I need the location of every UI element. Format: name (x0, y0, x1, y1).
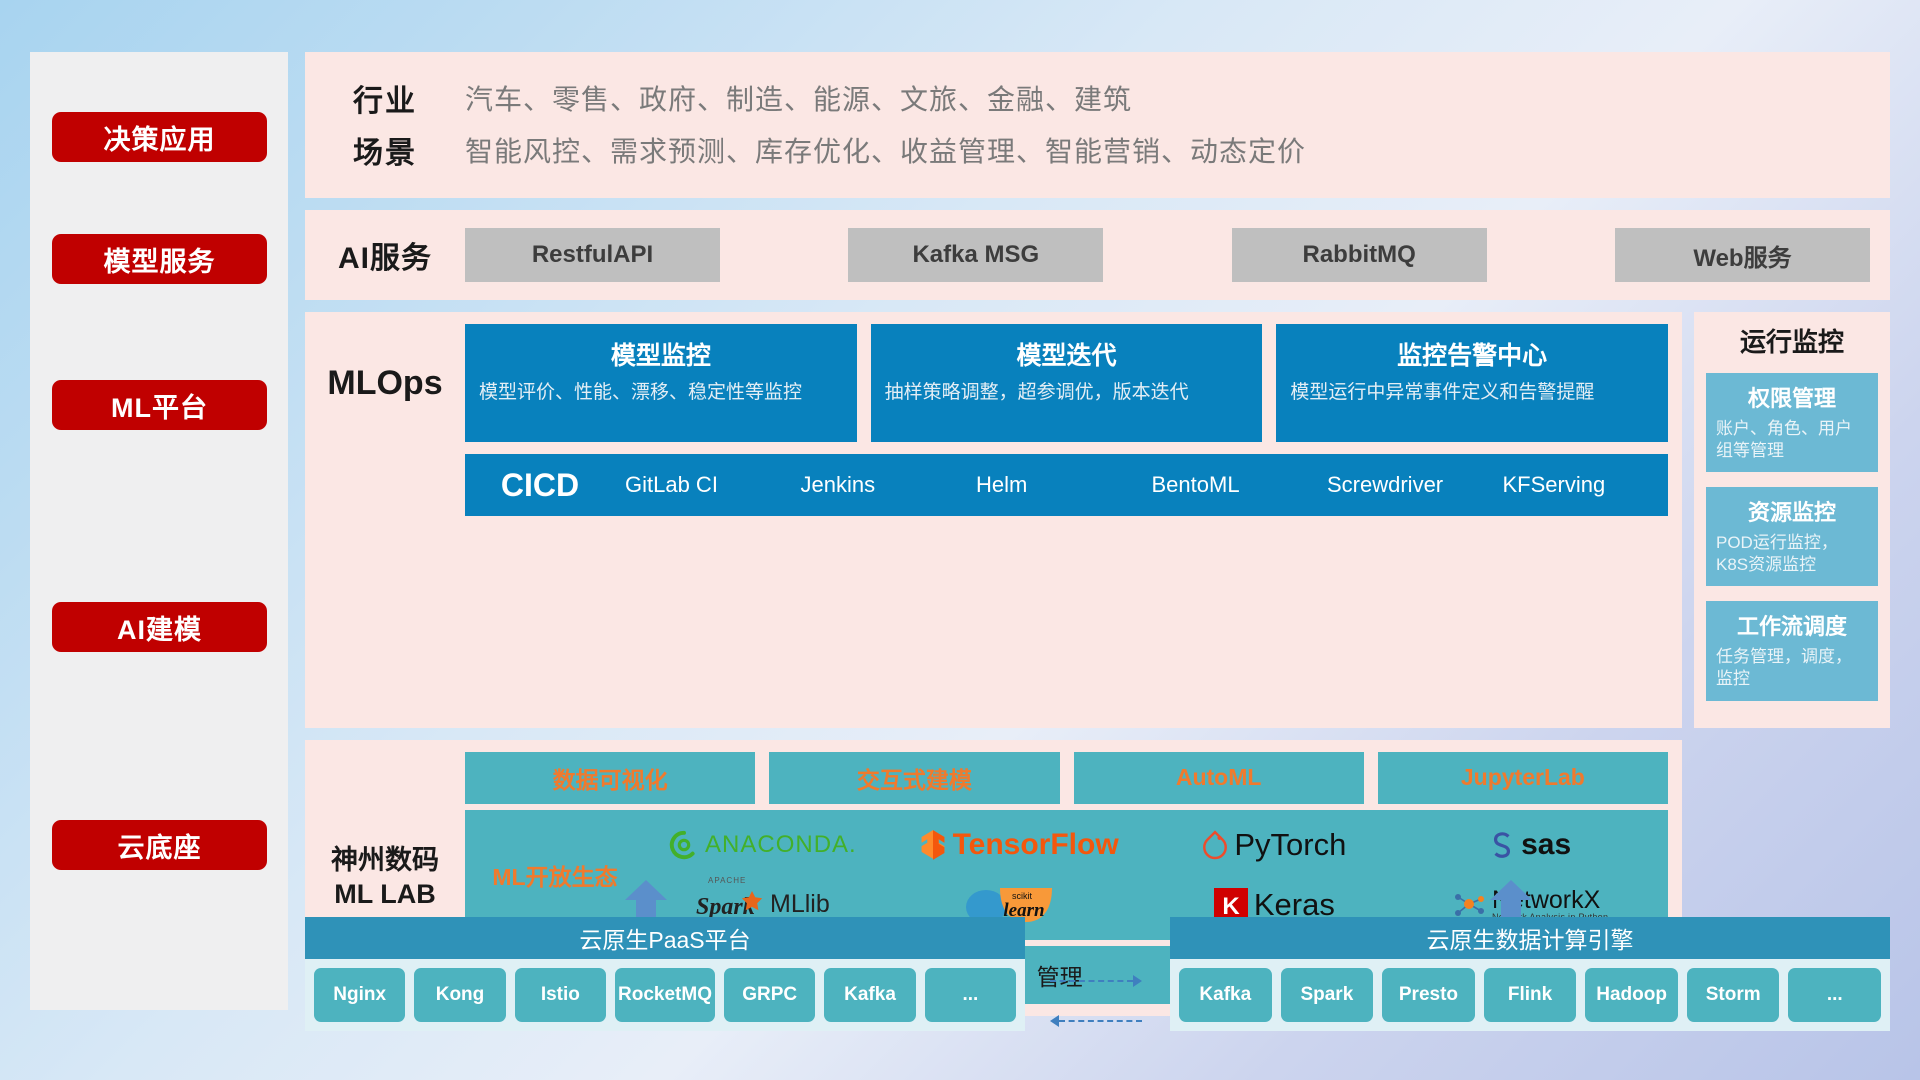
rail-chip-decision-app[interactable]: 决策应用 (52, 112, 267, 162)
cicd-strip: CICD GitLab CI Jenkins Helm BentoML Scre… (465, 454, 1668, 516)
chip-flink[interactable]: Flink (1484, 968, 1577, 1022)
logo-anaconda-text: ANACONDA. (705, 831, 857, 859)
rail-chip-label: AI建模 (117, 608, 202, 647)
card-desc: 模型评价、性能、漂移、稳定性等监控 (479, 380, 843, 406)
card-desc: 账户、角色、用户组等管理 (1716, 418, 1868, 462)
pytorch-icon (1202, 830, 1228, 860)
chip-kafka[interactable]: Kafka (824, 968, 915, 1022)
mlops-cards-row: MLOps 模型监控 模型评价、性能、漂移、稳定性等监控 模型迭代 抽样策略调整… (305, 324, 1682, 442)
tab-jupyterlab[interactable]: JupyterLab (1378, 752, 1668, 804)
logo-sas-text: sas (1521, 828, 1571, 862)
chip-more[interactable]: ... (1788, 968, 1881, 1022)
logo-pytorch-text: PyTorch (1234, 827, 1346, 863)
rail-chip-label: 决策应用 (104, 118, 216, 157)
logo-row-1: ANACONDA. TensorFlow (635, 816, 1658, 874)
mlops-card-model-iteration[interactable]: 模型迭代 抽样策略调整，超参调优，版本迭代 (871, 324, 1263, 442)
tab-data-visualization[interactable]: 数据可视化 (465, 752, 755, 804)
cloud-data-engine-group: 云原生数据计算引擎 Kafka Spark Presto Flink Hadoo… (1170, 880, 1890, 1045)
tab-interactive-modeling[interactable]: 交互式建模 (769, 752, 1059, 804)
chip-kafka[interactable]: Kafka (1179, 968, 1272, 1022)
rail-chip-model-service[interactable]: 模型服务 (52, 234, 267, 284)
up-arrow-icon (623, 880, 669, 920)
logo-sas[interactable]: sas (1402, 828, 1658, 862)
cicd-item-helm[interactable]: Helm (966, 473, 1142, 496)
logo-tensorflow-text: TensorFlow (953, 828, 1119, 862)
logo-tensorflow[interactable]: TensorFlow (891, 828, 1147, 862)
mlops-and-monitor-row: MLOps 模型监控 模型评价、性能、漂移、稳定性等监控 模型迭代 抽样策略调整… (305, 312, 1890, 728)
cicd-label: CICD (465, 467, 615, 504)
monitor-card-resource[interactable]: 资源监控 POD运行监控，K8S资源监控 (1706, 487, 1878, 586)
industry-value: 汽车、零售、政府、制造、能源、文旅、金融、建筑 (465, 78, 1132, 118)
logo-pytorch[interactable]: PyTorch (1147, 827, 1403, 863)
arrow-head-left-icon (1050, 1015, 1059, 1027)
card-title: 模型监控 (479, 336, 843, 372)
industry-row: 行业 汽车、零售、政府、制造、能源、文旅、金融、建筑 (305, 72, 1890, 124)
dashed-line (1059, 1020, 1142, 1022)
ai-service-key: AI服务 (305, 233, 465, 277)
ai-service-band: AI服务 RestfulAPI Kafka MSG RabbitMQ Web服务 (305, 210, 1890, 300)
runtime-monitor-title: 运行监控 (1706, 322, 1878, 359)
decision-app-band: 行业 汽车、零售、政府、制造、能源、文旅、金融、建筑 场景 智能风控、需求预测、… (305, 52, 1890, 198)
chip-presto[interactable]: Presto (1382, 968, 1475, 1022)
scenario-key: 场景 (305, 128, 465, 172)
left-rail: 决策应用 模型服务 ML平台 AI建模 云底座 (30, 52, 288, 1010)
ai-service-restfulapi[interactable]: RestfulAPI (465, 228, 720, 282)
anaconda-icon (669, 830, 699, 860)
cicd-item-kfserving[interactable]: KFServing (1493, 473, 1669, 496)
chip-rocketmq[interactable]: RocketMQ (615, 968, 715, 1022)
card-title: 工作流调度 (1716, 609, 1868, 641)
rail-chip-ai-modeling[interactable]: AI建模 (52, 602, 267, 652)
cicd-items: GitLab CI Jenkins Helm BentoML Screwdriv… (615, 473, 1668, 496)
cloud-paas-group: 云原生PaaS平台 Nginx Kong Istio RocketMQ GRPC… (305, 880, 1025, 1045)
card-desc: 模型运行中异常事件定义和告警提醒 (1290, 380, 1654, 406)
cloud-link-gap (1025, 880, 1170, 1045)
monitor-card-workflow[interactable]: 工作流调度 任务管理，调度，监控 (1706, 601, 1878, 700)
ml-lab-tabs: 数据可视化 交互式建模 AutoML JupyterLab (465, 752, 1668, 804)
scenario-value: 智能风控、需求预测、库存优化、收益管理、智能营销、动态定价 (465, 130, 1306, 170)
rail-chip-label: ML平台 (111, 386, 208, 425)
rail-chip-label: 云底座 (118, 826, 202, 865)
chip-spark[interactable]: Spark (1281, 968, 1374, 1022)
rail-chip-ml-platform[interactable]: ML平台 (52, 380, 267, 430)
card-title: 资源监控 (1716, 495, 1868, 527)
ml-lab-key-line1: 神州数码 (331, 844, 439, 878)
scenario-row: 场景 智能风控、需求预测、库存优化、收益管理、智能营销、动态定价 (305, 124, 1890, 176)
dashed-arrow-left (1050, 1020, 1142, 1022)
cicd-item-bentoml[interactable]: BentoML (1142, 473, 1318, 496)
logo-anaconda[interactable]: ANACONDA. (635, 830, 891, 860)
chip-hadoop[interactable]: Hadoop (1585, 968, 1678, 1022)
ai-service-items: RestfulAPI Kafka MSG RabbitMQ Web服务 (465, 228, 1890, 282)
tab-automl[interactable]: AutoML (1074, 752, 1364, 804)
chip-istio[interactable]: Istio (515, 968, 606, 1022)
card-desc: POD运行监控，K8S资源监控 (1716, 532, 1868, 576)
runtime-monitor-column: 运行监控 权限管理 账户、角色、用户组等管理 资源监控 POD运行监控，K8S资… (1694, 312, 1890, 728)
monitor-card-permission[interactable]: 权限管理 账户、角色、用户组等管理 (1706, 373, 1878, 472)
cloud-paas-title: 云原生PaaS平台 (305, 917, 1025, 959)
mlops-cards: 模型监控 模型评价、性能、漂移、稳定性等监控 模型迭代 抽样策略调整，超参调优，… (465, 324, 1682, 442)
chip-kong[interactable]: Kong (414, 968, 505, 1022)
card-title: 监控告警中心 (1290, 336, 1654, 372)
cloud-data-engine-title: 云原生数据计算引擎 (1170, 917, 1890, 959)
ai-service-rabbitmq[interactable]: RabbitMQ (1232, 228, 1487, 282)
cloud-foundation-row: 云原生PaaS平台 Nginx Kong Istio RocketMQ GRPC… (305, 880, 1890, 1045)
mlops-card-model-monitoring[interactable]: 模型监控 模型评价、性能、漂移、稳定性等监控 (465, 324, 857, 442)
arrow-head-right-icon (1133, 975, 1142, 987)
cloud-data-engine-chips: Kafka Spark Presto Flink Hadoop Storm ..… (1170, 959, 1890, 1031)
chip-more[interactable]: ... (925, 968, 1016, 1022)
card-title: 模型迭代 (885, 336, 1249, 372)
rail-chip-label: 模型服务 (104, 240, 216, 279)
industry-key: 行业 (305, 76, 465, 120)
chip-nginx[interactable]: Nginx (314, 968, 405, 1022)
card-desc: 任务管理，调度，监控 (1716, 646, 1868, 690)
mlops-key: MLOps (305, 324, 465, 442)
rail-chip-cloud-base[interactable]: 云底座 (52, 820, 267, 870)
tensorflow-icon (919, 829, 947, 861)
chip-storm[interactable]: Storm (1687, 968, 1780, 1022)
chip-grpc[interactable]: GRPC (724, 968, 815, 1022)
sas-icon (1489, 830, 1515, 860)
dashed-arrow-right (1050, 980, 1142, 982)
ai-service-kafka-msg[interactable]: Kafka MSG (848, 228, 1103, 282)
ai-service-web[interactable]: Web服务 (1615, 228, 1870, 282)
card-title: 权限管理 (1716, 381, 1868, 413)
up-arrow-icon (1488, 880, 1534, 920)
cicd-item-jenkins[interactable]: Jenkins (791, 473, 967, 496)
dashed-line (1050, 980, 1133, 982)
card-desc: 抽样策略调整，超参调优，版本迭代 (885, 380, 1249, 406)
mlops-band: MLOps 模型监控 模型评价、性能、漂移、稳定性等监控 模型迭代 抽样策略调整… (305, 312, 1682, 728)
cicd-item-gitlab-ci[interactable]: GitLab CI (615, 473, 791, 496)
cicd-item-screwdriver[interactable]: Screwdriver (1317, 473, 1493, 496)
main-stack: 行业 汽车、零售、政府、制造、能源、文旅、金融、建筑 场景 智能风控、需求预测、… (305, 52, 1890, 1016)
mlops-card-alert-center[interactable]: 监控告警中心 模型运行中异常事件定义和告警提醒 (1276, 324, 1668, 442)
cloud-paas-chips: Nginx Kong Istio RocketMQ GRPC Kafka ... (305, 959, 1025, 1031)
